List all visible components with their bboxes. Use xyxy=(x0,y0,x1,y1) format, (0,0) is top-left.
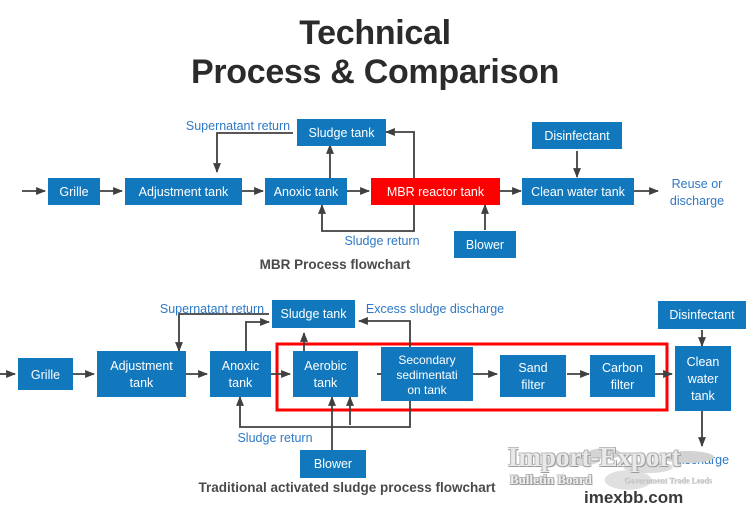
box-aerobic-tank[interactable] xyxy=(293,351,358,397)
box-sludge-tank-2-label: Sludge tank xyxy=(280,307,347,321)
box-adjustment-tank-2-line1: Adjustment xyxy=(110,359,173,373)
box-grille-2-label: Grille xyxy=(31,368,60,382)
box-anoxic-tank-2[interactable] xyxy=(210,351,271,397)
label-sludge-return: Sludge return xyxy=(344,234,419,248)
diagram-root: Technical Process & Comparison xyxy=(0,0,750,520)
traditional-flowchart-caption: Traditional activated sludge process flo… xyxy=(198,480,496,495)
box-adjustment-tank-2-line2: tank xyxy=(130,376,154,390)
box-secondary-sedimentation-line1: Secondary xyxy=(398,353,455,367)
box-sand-filter-line2: filter xyxy=(521,378,545,392)
arrow-supernatant-return xyxy=(217,133,293,172)
arrow-sludge-return xyxy=(322,204,414,231)
mbr-flowchart-group: Grille Adjustment tank Anoxic tank MBR r… xyxy=(22,119,724,272)
mbr-flowchart-caption: MBR Process flowchart xyxy=(260,257,411,272)
box-aerobic-tank-line1: Aerobic xyxy=(304,359,346,373)
box-disinfectant-2-label: Disinfectant xyxy=(669,308,735,322)
box-clean-water-tank-2-line1: Clean xyxy=(687,355,720,369)
label-discharge: discharge xyxy=(675,453,729,467)
label-excess-sludge-discharge: Excess sludge discharge xyxy=(366,302,504,316)
label-sludge-return-2: Sludge return xyxy=(237,431,312,445)
label-reuse-line2: discharge xyxy=(670,194,724,208)
box-sand-filter-line1: Sand xyxy=(518,361,547,375)
box-adjustment-tank-2[interactable] xyxy=(97,351,186,397)
box-secondary-sedimentation-line2: sedimentati xyxy=(396,368,457,382)
box-adjustment-tank-label: Adjustment tank xyxy=(139,185,229,199)
box-clean-water-tank-2-line2: water xyxy=(687,372,719,386)
flowchart-canvas: Grille Adjustment tank Anoxic tank MBR r… xyxy=(0,0,750,520)
box-clean-water-tank-2-line3: tank xyxy=(691,389,715,403)
box-clean-water-tank-label: Clean water tank xyxy=(531,185,626,199)
arrow-supernatant-return-2 xyxy=(179,314,269,351)
box-anoxic-tank-label: Anoxic tank xyxy=(274,185,339,199)
arrow-sludge-return-2 xyxy=(240,397,410,427)
box-carbon-filter-line1: Carbon xyxy=(602,361,643,375)
box-carbon-filter-line2: filter xyxy=(611,378,635,392)
traditional-boxes: Grille Adjustment tank Anoxic tank Aerob… xyxy=(18,300,746,478)
box-secondary-sedimentation-line3: on tank xyxy=(407,383,447,397)
mbr-boxes: Grille Adjustment tank Anoxic tank MBR r… xyxy=(48,119,634,258)
box-disinfectant-label: Disinfectant xyxy=(544,129,610,143)
traditional-flowchart-group: Grille Adjustment tank Anoxic tank Aerob… xyxy=(0,300,746,495)
arrow-mbr-to-sludge-tank xyxy=(386,132,414,178)
box-grille-label: Grille xyxy=(59,185,88,199)
box-aerobic-tank-line2: tank xyxy=(314,376,338,390)
box-blower-2-label: Blower xyxy=(314,457,352,471)
box-blower-label: Blower xyxy=(466,238,504,252)
label-supernatant-return-2: Supernatant return xyxy=(160,302,264,316)
box-anoxic-tank-2-line2: tank xyxy=(229,376,253,390)
box-anoxic-tank-2-line1: Anoxic xyxy=(222,359,260,373)
box-sludge-tank-label: Sludge tank xyxy=(308,126,375,140)
label-reuse-line1: Reuse or xyxy=(672,177,723,191)
box-mbr-reactor-tank-label: MBR reactor tank xyxy=(387,185,485,199)
label-supernatant-return: Supernatant return xyxy=(186,119,290,133)
arrow-anoxic-to-sludge-tank-2 xyxy=(246,322,269,352)
